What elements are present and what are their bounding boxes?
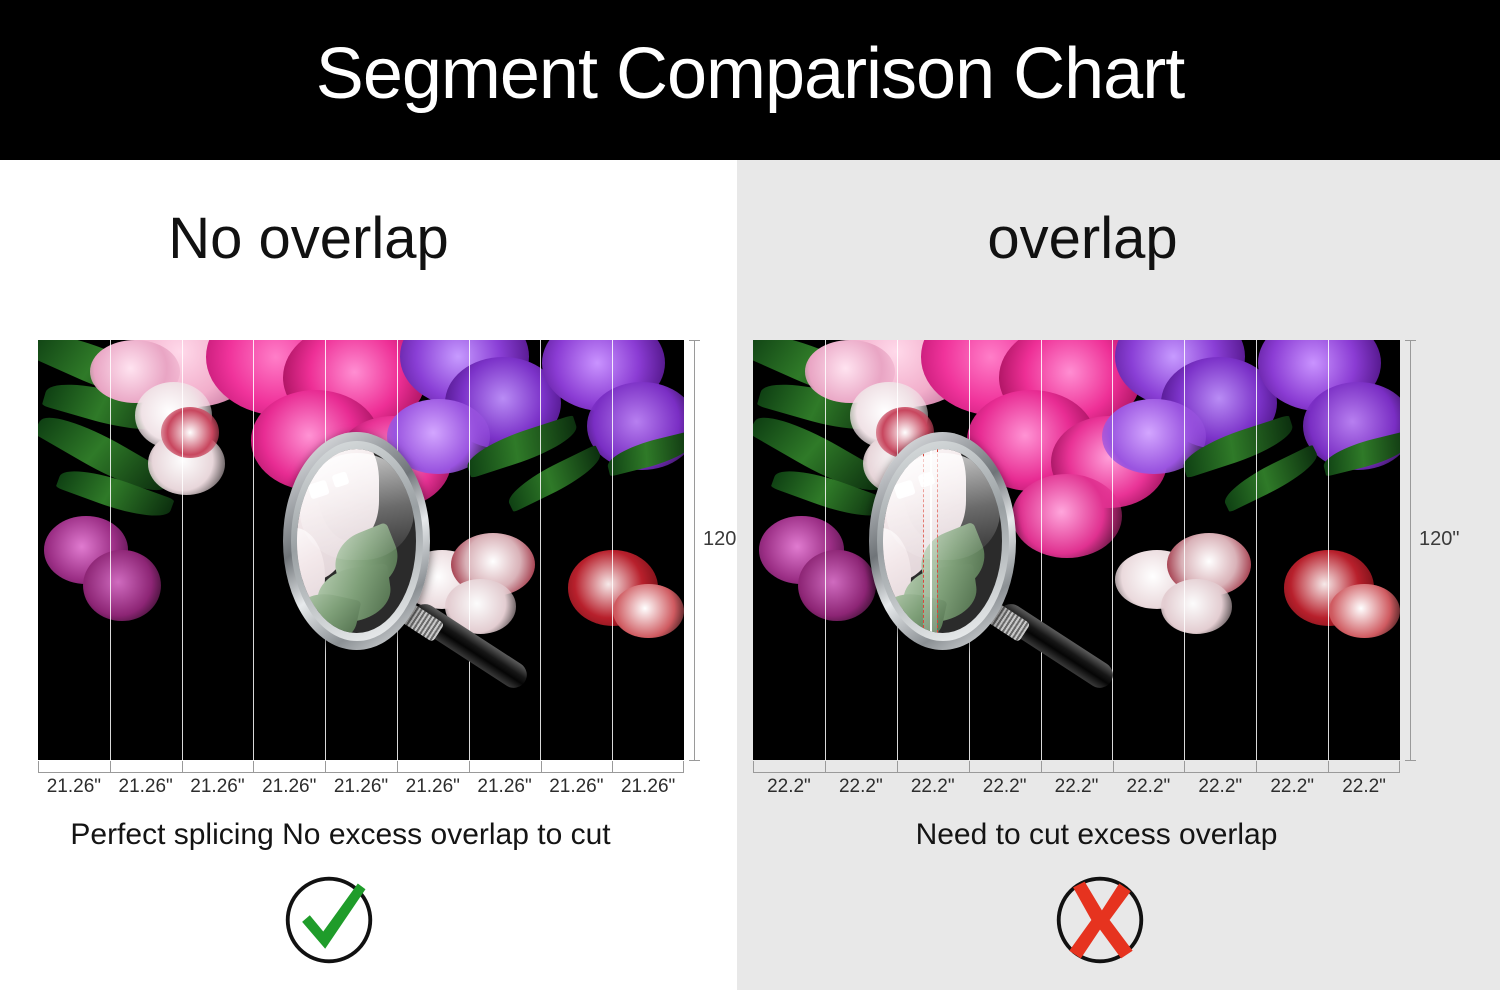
dimension-tick [1041,761,1042,772]
dimension-tick [469,761,470,772]
segment-label: 21.26" [540,776,612,798]
dimension-line [694,340,695,760]
overlap-boundary-line [937,449,938,633]
dimension-tick [38,761,39,772]
magnifying-glass-icon [283,432,516,726]
seam-line [1256,340,1257,760]
segment-label: 22.2" [1256,776,1328,798]
seam-line [825,340,826,760]
mural-overlap: 120" 22.2" 22.2" 22.2" [753,340,1400,760]
caption-no-overlap: Perfect splicing No excess overlap to cu… [0,820,709,850]
dimension-tick [253,761,254,772]
segment-label: 21.26" [325,776,397,798]
caption-overlap: Need to cut excess overlap [715,820,1478,850]
width-dimension-overlap [753,772,1400,773]
height-label: 120" [1419,528,1459,551]
seam-line [1184,340,1185,760]
segment-label: 22.2" [897,776,969,798]
magnifier-lens [883,449,1002,633]
dimension-tick [1113,761,1114,772]
title-bar: Segment Comparison Chart [0,0,1500,160]
green-check-circle-icon [281,872,377,968]
segment-label: 21.26" [182,776,254,798]
segment-label: 21.26" [612,776,684,798]
panel-heading-no-overlap: No overlap [0,210,677,268]
segment-label: 22.2" [753,776,825,798]
segment-label: 22.2" [1112,776,1184,798]
seam-line [1328,340,1329,760]
mural-no-overlap: 120" 21.26" 21.26" [38,340,684,760]
seam-line [612,340,613,760]
segment-labels-overlap: 22.2" 22.2" 22.2" 22.2" 22.2" 22.2" 22.2… [753,776,1400,798]
dimension-tick [325,761,326,772]
dimension-tick [1328,761,1329,772]
panel-no-overlap: No overlap [0,160,737,990]
seam-line [1112,340,1113,760]
segment-label: 22.2" [1184,776,1256,798]
segment-labels-no-overlap: 21.26" 21.26" 21.26" 21.26" 21.26" 21.26… [38,776,684,798]
panel-overlap: overlap [737,160,1500,990]
magnifier-inner-ring [291,441,423,641]
page-title: Segment Comparison Chart [0,38,1500,110]
segment-label: 21.26" [110,776,182,798]
width-dimension-no-overlap [38,772,684,773]
dimension-cap [1405,340,1416,341]
segment-label: 21.26" [38,776,110,798]
dimension-tick [182,761,183,772]
mural-artwork [38,340,684,760]
segment-label: 22.2" [1041,776,1113,798]
magnifying-glass-icon [869,432,1102,726]
seam-line [110,340,111,760]
dimension-cap [1405,760,1416,761]
segment-label: 21.26" [253,776,325,798]
dimension-tick [110,761,111,772]
dimension-tick [541,761,542,772]
dimension-tick [969,761,970,772]
dimension-tick [1399,761,1400,772]
segment-label: 22.2" [825,776,897,798]
segment-label: 22.2" [1328,776,1400,798]
panel-heading-overlap: overlap [701,210,1464,268]
segment-comparison-page: Segment Comparison Chart No overlap [0,0,1500,990]
segment-label: 21.26" [397,776,469,798]
dimension-tick [1184,761,1185,772]
red-cross-circle-icon [1052,872,1148,968]
mural-artwork [753,340,1400,760]
dimension-tick [753,761,754,772]
dimension-tick [683,761,684,772]
magnifier-rim [869,432,1016,650]
segment-label: 22.2" [969,776,1041,798]
magnifier-rim [283,432,430,650]
seam-line [182,340,183,760]
lens-magnified-scene [297,449,416,633]
dimension-cap [689,760,700,761]
dimension-tick [1256,761,1257,772]
seam-line [540,340,541,760]
dimension-line [1410,340,1411,760]
dimension-tick [612,761,613,772]
comparison-panels: No overlap [0,160,1500,990]
seam-line [253,340,254,760]
dimension-cap [689,340,700,341]
dimension-tick [897,761,898,772]
magnifier-lens [297,449,416,633]
lens-magnified-scene [883,449,1002,633]
dimension-tick [397,761,398,772]
dimension-tick [825,761,826,772]
magnifier-inner-ring [877,441,1009,641]
segment-label: 21.26" [469,776,541,798]
